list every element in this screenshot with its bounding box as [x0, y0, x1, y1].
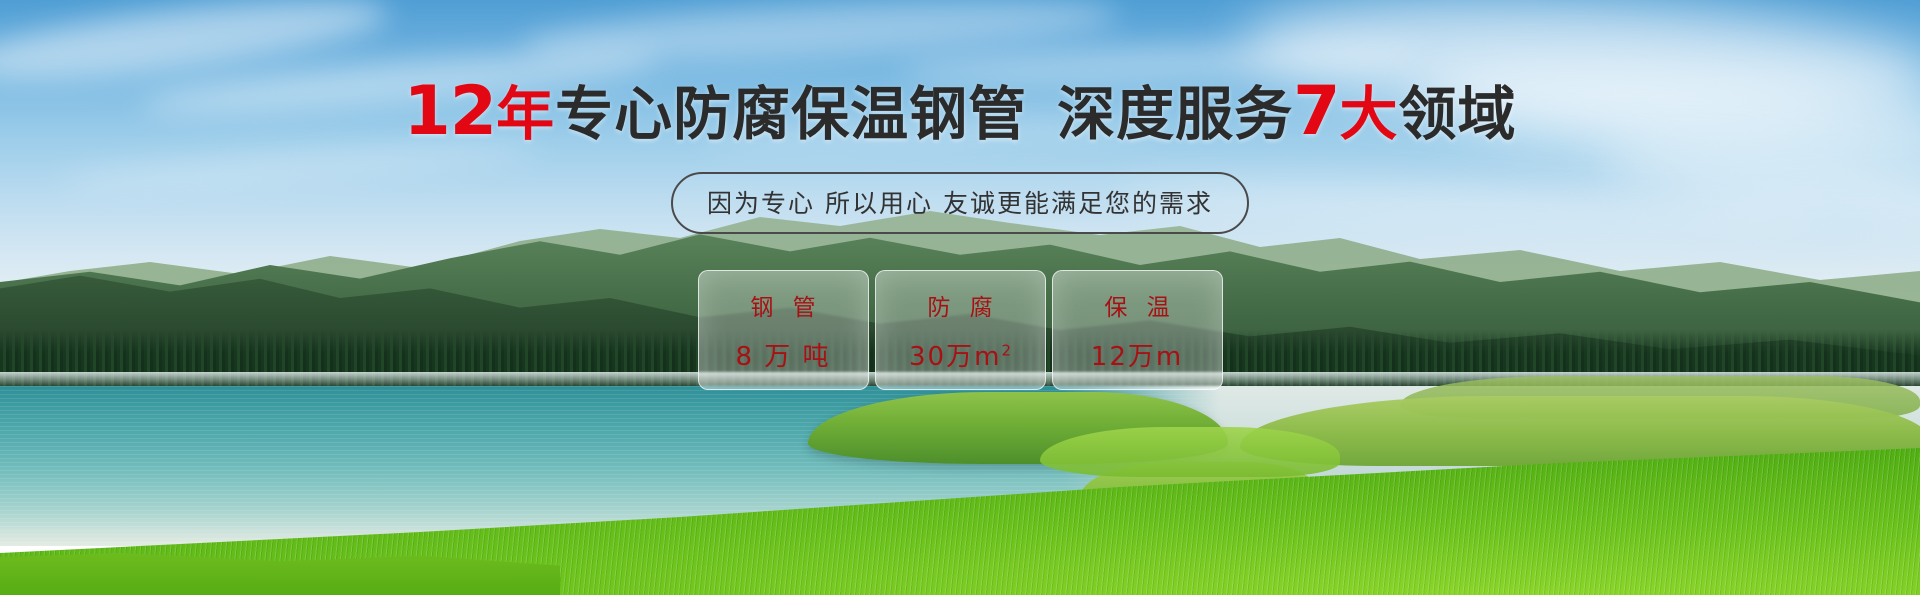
stat-value-text: 12万m: [1091, 342, 1183, 372]
stat-card-group: 钢 管 8 万 吨 防 腐 30万m2 保 温 12万m: [698, 270, 1223, 390]
hero-banner: 12年专心防腐保温钢管深度服务7大领域 因为专心 所以用心 友诚更能满足您的需求…: [0, 0, 1920, 595]
stat-card-value: 8 万 吨: [735, 336, 830, 373]
banner-content: 12年专心防腐保温钢管深度服务7大领域 因为专心 所以用心 友诚更能满足您的需求…: [0, 0, 1920, 595]
stat-value-text: 30万m: [909, 342, 1001, 372]
stat-card-steel-pipe: 钢 管 8 万 吨: [698, 270, 869, 390]
stat-card-value: 12万m: [1091, 336, 1183, 373]
stat-card-anticorrosion: 防 腐 30万m2: [875, 270, 1046, 390]
stat-value-superscript: 2: [1001, 341, 1011, 359]
headline-highlight-unit: 大: [1339, 80, 1398, 148]
headline-tail-text: 领域: [1399, 80, 1517, 148]
headline-service-text: 深度服务: [1057, 80, 1293, 148]
headline-years-number: 12: [403, 72, 496, 151]
stat-card-insulation: 保 温 12万m: [1052, 270, 1223, 390]
headline-main-text: 专心防腐保温钢管: [555, 80, 1027, 148]
headline-highlight-number: 7: [1293, 72, 1339, 151]
stat-card-title: 保 温: [1098, 288, 1175, 322]
headline: 12年专心防腐保温钢管深度服务7大领域: [403, 78, 1516, 146]
headline-years-unit: 年: [496, 80, 555, 148]
stat-value-text: 8 万 吨: [735, 342, 830, 372]
subtitle-pill: 因为专心 所以用心 友诚更能满足您的需求: [671, 172, 1249, 234]
stat-card-title: 钢 管: [744, 288, 821, 322]
stat-card-title: 防 腐: [921, 288, 998, 322]
stat-card-value: 30万m2: [909, 336, 1011, 373]
